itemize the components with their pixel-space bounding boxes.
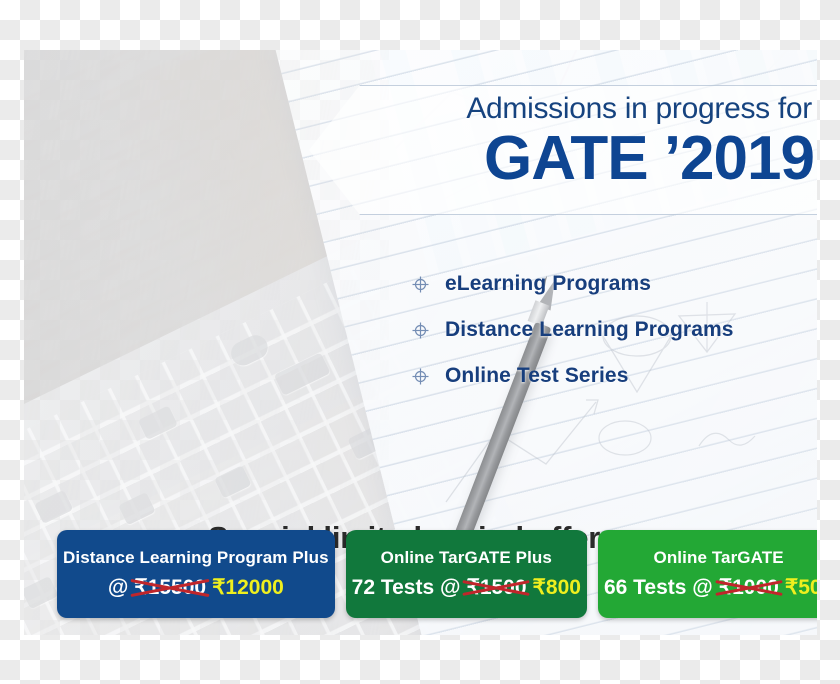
headline-line-1: Admissions in progress for xyxy=(354,94,817,124)
price-card-price-row: 66 Tests @₹1000₹500 xyxy=(604,575,817,600)
old-price-struck: ₹15500 xyxy=(134,575,206,600)
feature-label: Online Test Series xyxy=(445,364,628,388)
crosshair-target-icon xyxy=(412,322,429,339)
price-card[interactable]: Online TarGATE Plus72 Tests @₹1500₹800 xyxy=(346,530,587,618)
transparency-canvas: Admissions in progress for GATE ’2019 eL… xyxy=(0,0,840,684)
letter-key xyxy=(24,576,59,609)
price-card[interactable]: Distance Learning Program Plus@₹15500₹12… xyxy=(57,530,335,618)
new-price: ₹500 xyxy=(785,575,817,600)
feature-list: eLearning ProgramsDistance Learning Prog… xyxy=(412,272,734,388)
function-key xyxy=(35,489,74,523)
new-price: ₹800 xyxy=(533,575,581,600)
feature-item: Online Test Series xyxy=(412,364,734,388)
price-card-price-row: @₹15500₹12000 xyxy=(108,575,284,600)
price-card-title: Online TarGATE Plus xyxy=(381,548,552,568)
price-card-list: Distance Learning Program Plus@₹15500₹12… xyxy=(57,530,783,618)
old-price-struck: ₹1500 xyxy=(466,575,526,600)
crosshair-target-icon xyxy=(412,276,429,293)
feature-item: eLearning Programs xyxy=(412,272,734,296)
feature-label: Distance Learning Programs xyxy=(445,318,734,342)
promotional-banner: Admissions in progress for GATE ’2019 eL… xyxy=(24,50,817,635)
crosshair-target-icon xyxy=(412,368,429,385)
feature-item: Distance Learning Programs xyxy=(412,318,734,342)
volume-key xyxy=(138,405,178,440)
price-card[interactable]: Online TarGATE66 Tests @₹1000₹500 xyxy=(598,530,817,618)
delete-key xyxy=(275,352,332,395)
old-price-struck: ₹1000 xyxy=(719,575,779,600)
price-card-title: Distance Learning Program Plus xyxy=(63,548,329,568)
price-card-title: Online TarGATE xyxy=(654,548,784,568)
feature-label: eLearning Programs xyxy=(445,272,651,296)
price-prefix: 66 Tests @ xyxy=(604,576,713,600)
power-key xyxy=(227,331,272,369)
price-prefix: 72 Tests @ xyxy=(352,576,461,600)
new-price: ₹12000 xyxy=(212,575,284,600)
headline-block: Admissions in progress for GATE ’2019 xyxy=(354,94,817,190)
price-card-price-row: 72 Tests @₹1500₹800 xyxy=(352,575,581,600)
headline-line-2: GATE ’2019 xyxy=(354,128,817,190)
bracket-key xyxy=(215,465,253,498)
price-prefix: @ xyxy=(108,576,128,600)
